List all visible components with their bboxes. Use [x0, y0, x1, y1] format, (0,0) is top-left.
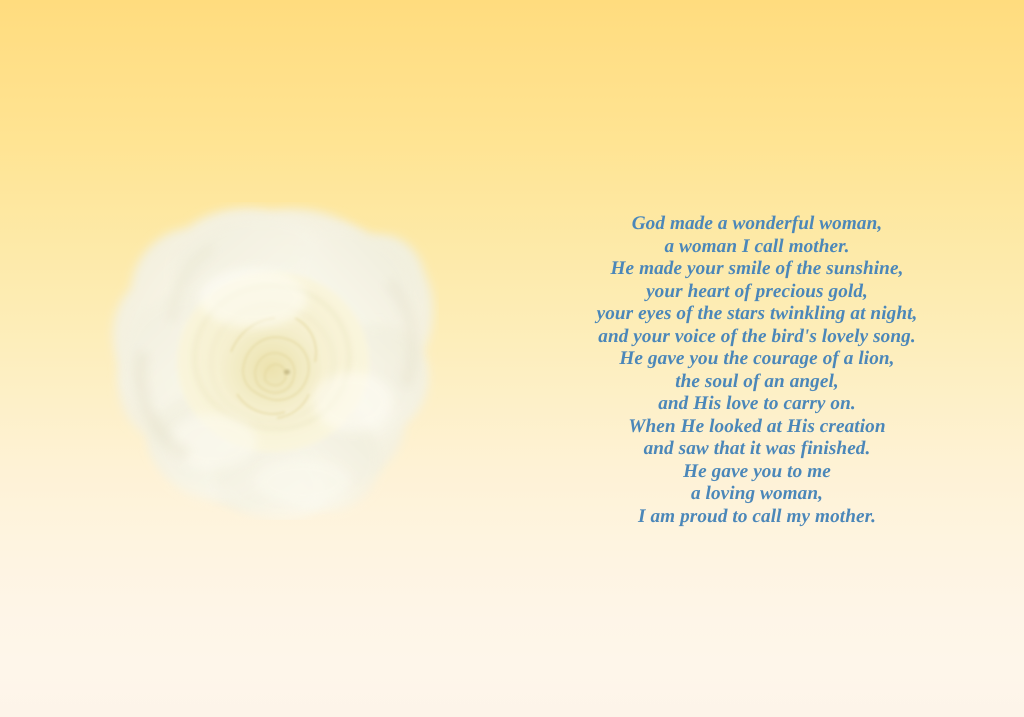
rose-inner-bowl: [177, 272, 369, 452]
poem-line: and your voice of the bird's lovely song…: [526, 326, 988, 349]
poem-line: God made a wonderful woman,: [526, 213, 988, 236]
poem-line: your eyes of the stars twinkling at nigh…: [526, 303, 988, 326]
white-rose-image: [103, 202, 439, 520]
poem-line: a loving woman,: [526, 483, 988, 506]
rose-petal-upper-right: [297, 228, 415, 357]
rose-center-swirl: [231, 318, 316, 418]
rose-outer-petals: [113, 208, 433, 510]
rose-petal-upper-left: [173, 217, 332, 348]
rose-heart: [221, 322, 321, 414]
poem-line: and His love to carry on.: [526, 393, 988, 416]
greeting-card-canvas: God made a wonderful woman, a woman I ca…: [0, 0, 1024, 717]
poem-line: and saw that it was finished.: [526, 438, 988, 461]
rose-petal-left: [119, 294, 250, 422]
rose-shading: [140, 248, 413, 456]
poem-line: He gave you to me: [526, 461, 988, 484]
rose-center-speck: [284, 370, 290, 375]
rose-illustration: [103, 202, 439, 520]
poem-line: a woman I call mother.: [526, 236, 988, 259]
poem-line: When He looked at His creation: [526, 416, 988, 439]
rose-petal-lower-right: [267, 403, 380, 512]
rose-petal-right: [305, 325, 423, 441]
poem-line: I am proud to call my mother.: [526, 506, 988, 529]
poem-line: the soul of an angel,: [526, 371, 988, 394]
rose-inner-rings: [195, 286, 350, 429]
rose-highlights: [169, 268, 393, 506]
rose-petal-bottom: [213, 444, 325, 520]
poem-text-block: God made a wonderful woman, a woman I ca…: [526, 213, 988, 528]
rose-petal-lower-left: [149, 390, 278, 500]
poem-line: your heart of precious gold,: [526, 281, 988, 304]
poem-line: He gave you the courage of a lion,: [526, 348, 988, 371]
poem-line: He made your smile of the sunshine,: [526, 258, 988, 281]
